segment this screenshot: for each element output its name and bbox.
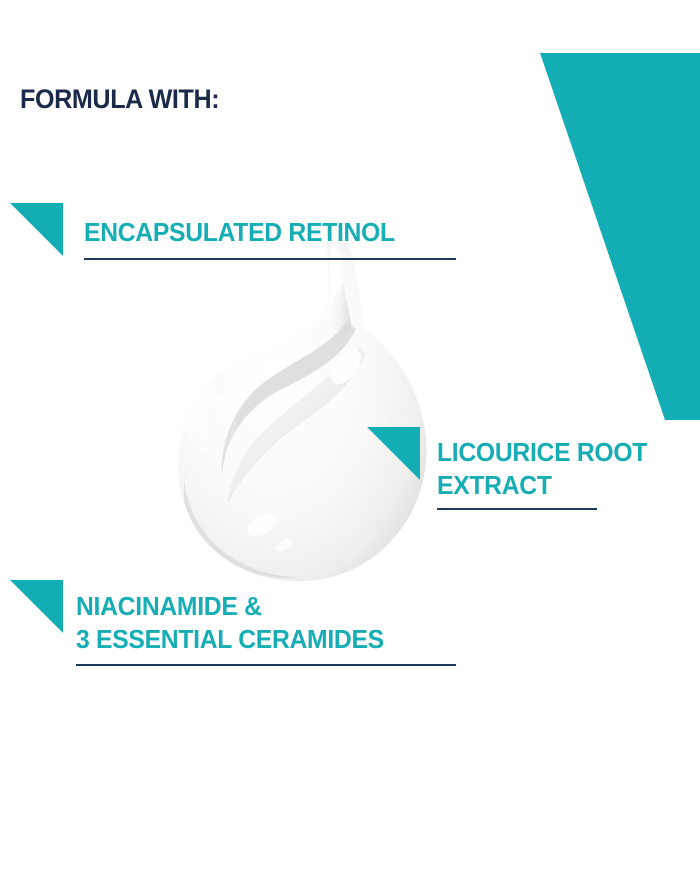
triangle-bullet-icon (10, 580, 63, 633)
cream-swatch-image (150, 225, 450, 605)
callout-underline-encapsulated-retinol (84, 258, 456, 260)
teal-corner-wedge-shape (540, 0, 700, 420)
callout-label-line-2: EXTRACT (437, 470, 552, 500)
callout-underline-licourice-root-extract (437, 508, 597, 510)
callout-label-niacinamide-ceramides: NIACINAMIDE &3 ESSENTIAL CERAMIDES (76, 590, 384, 656)
callout-label-line-1: LICOURICE ROOT (437, 437, 647, 467)
callout-label-licourice-root-extract: LICOURICE ROOTEXTRACT (437, 436, 647, 502)
callout-label-line-1: NIACINAMIDE & (76, 591, 262, 621)
triangle-bullet-icon (10, 203, 63, 256)
callout-underline-niacinamide-ceramides (76, 664, 456, 666)
page-title: FORMULA WITH: (20, 84, 219, 115)
product-formula-graphic: FORMULA WITH: ENCAPSULATED RETINOL LICOU… (0, 0, 700, 875)
callout-label-encapsulated-retinol: ENCAPSULATED RETINOL (84, 216, 395, 249)
triangle-bullet-icon (367, 427, 420, 480)
callout-label-line-2: 3 ESSENTIAL CERAMIDES (76, 624, 384, 654)
